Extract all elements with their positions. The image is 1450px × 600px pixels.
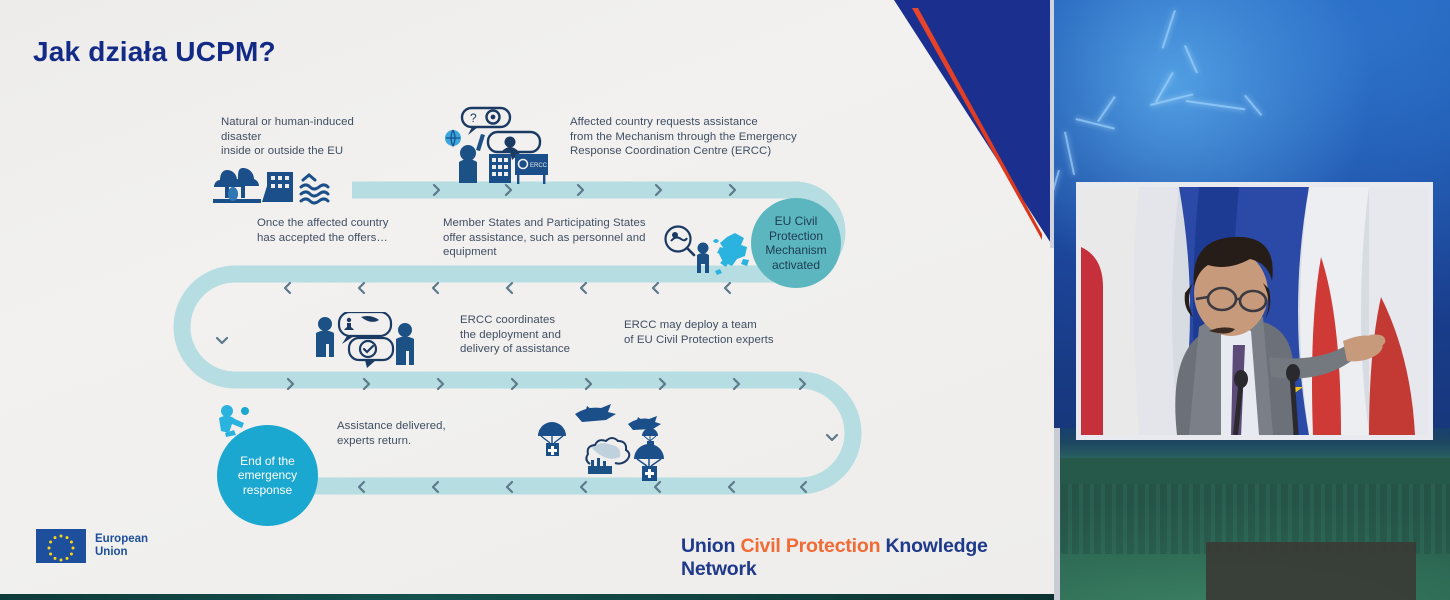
circle-label-end: End of the emergency response <box>238 454 297 498</box>
ucpkn-brand-wordmark: Union Civil Protection Knowledge Network <box>681 535 1054 581</box>
ercc-request-icon-group: ? <box>440 106 550 186</box>
navy-triangle <box>894 0 1054 248</box>
landscape-left-edge <box>1054 428 1060 600</box>
svg-text:?: ? <box>470 111 477 125</box>
slide-bottom-strip <box>0 594 1054 600</box>
step-text-deploy: ERCC may deploy a team of EU Civil Prote… <box>624 318 774 347</box>
speaker-video-inset[interactable] <box>1076 182 1433 440</box>
aid-delivery-icon-group <box>530 398 680 486</box>
presentation-slide: Jak działa UCPM? <box>0 0 1054 600</box>
europe-assistance-icon-group <box>663 223 753 281</box>
step-text-disaster: Natural or human-induced disaster inside… <box>221 115 354 159</box>
european-union-logo: European Union <box>36 529 148 563</box>
step-text-offer: Member States and Participating States o… <box>443 216 646 260</box>
rescuer-icon <box>215 402 259 438</box>
step-text-request: Affected country requests assistance fro… <box>570 115 797 159</box>
page-title: Jak działa UCPM? <box>33 36 276 68</box>
speaker-video-frame <box>1081 187 1428 435</box>
brand-word-union: Union <box>681 535 740 557</box>
brand-word-civil-protection: Civil Protection <box>740 535 885 557</box>
svg-text:ERCC: ERCC <box>530 163 548 169</box>
step-text-delivered: Assistance delivered, experts return. <box>337 419 446 448</box>
screen: Jak działa UCPM? <box>0 0 1450 600</box>
dark-overlay-box <box>1206 542 1416 600</box>
eu-logo-label: European Union <box>95 533 148 559</box>
green-landscape-backdrop <box>1054 428 1450 600</box>
status-badge-end-of-response: End of the emergency response <box>217 425 318 526</box>
speaker-scene <box>1081 187 1428 435</box>
status-badge-mechanism-activated: EU Civil Protection Mechanism activated <box>751 198 841 288</box>
step-text-accepted: Once the affected country has accepted t… <box>257 216 388 245</box>
step-text-coordinates: ERCC coordinates the deployment and deli… <box>460 313 570 357</box>
forest-fire-icon <box>213 164 333 208</box>
eu-flag-icon <box>36 529 86 563</box>
corner-decoration <box>894 0 1054 248</box>
ercc-coordination-icon-group <box>313 312 423 374</box>
circle-label-activated: EU Civil Protection Mechanism activated <box>765 214 826 272</box>
